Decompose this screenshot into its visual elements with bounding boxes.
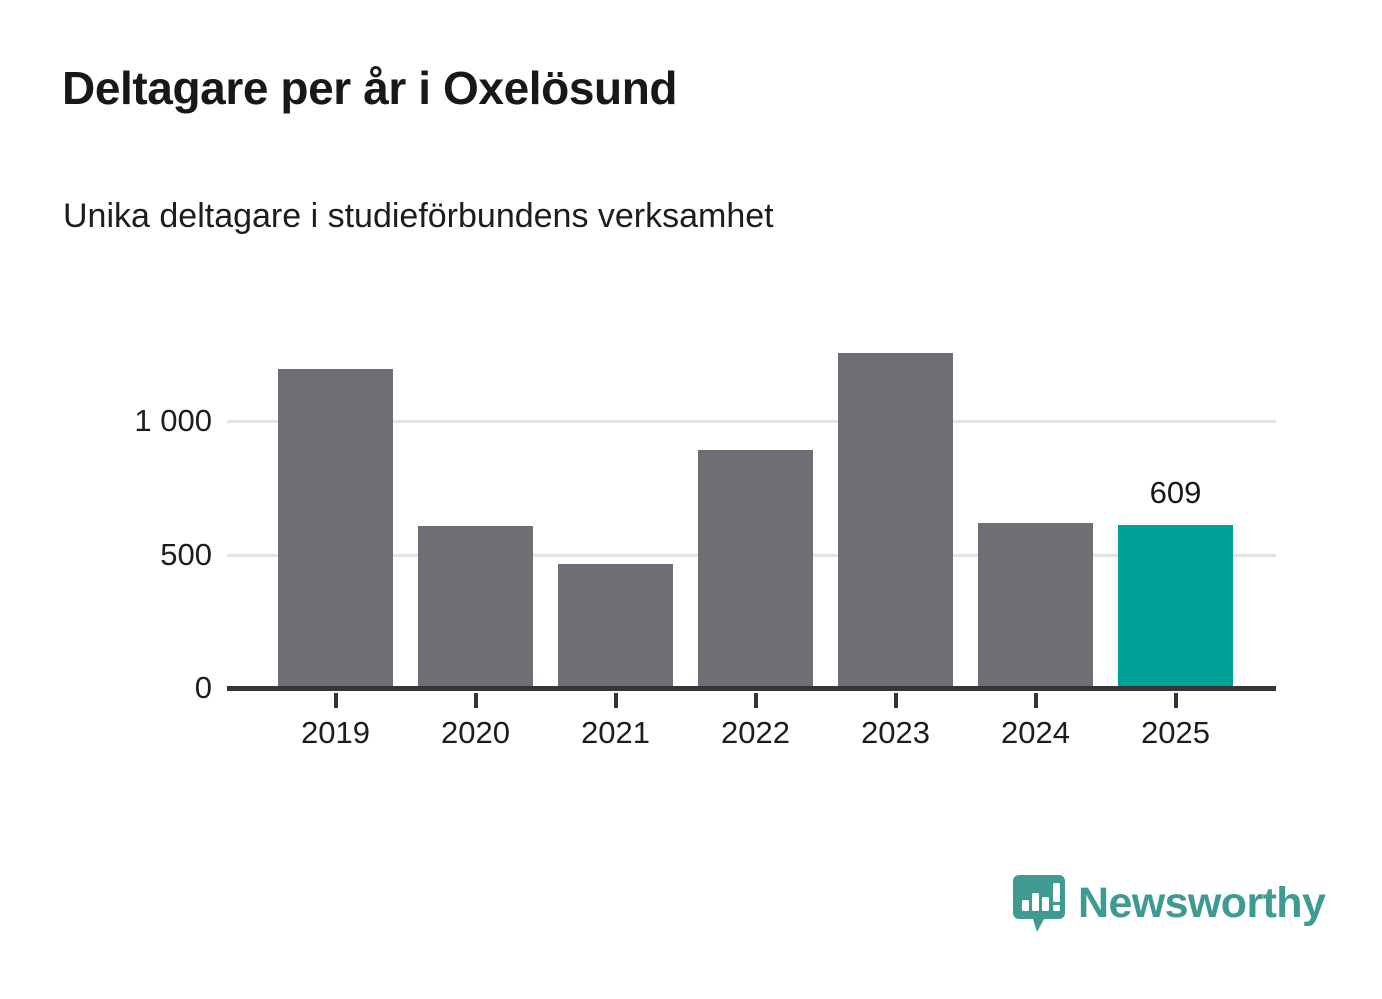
x-axis-tick-2019 [334,693,338,708]
x-axis-line [227,686,1276,691]
x-axis-tick-2021 [614,693,618,708]
x-axis-label-2021: 2021 [546,717,686,748]
x-axis-label-2023: 2023 [826,717,966,748]
bar-2023[interactable] [838,353,953,688]
bar-chart-plot: 201920202021202220232024202505001 000609 [0,0,1382,999]
x-axis-label-2020: 2020 [406,717,546,748]
x-axis-tick-2020 [474,693,478,708]
x-axis-tick-2025 [1174,693,1178,708]
bar-2021[interactable] [558,564,673,688]
bar-2020[interactable] [418,526,533,688]
x-axis-label-2025: 2025 [1106,717,1246,748]
x-axis-label-2024: 2024 [966,717,1106,748]
x-axis-tick-2024 [1034,693,1038,708]
newsworthy-logo: Newsworthy [1013,875,1325,932]
x-axis-label-2019: 2019 [266,717,406,748]
x-axis-label-2022: 2022 [686,717,826,748]
bar-2024[interactable] [978,523,1093,688]
bar-value-label-2025: 609 [1118,477,1233,508]
x-axis-tick-2022 [754,693,758,708]
y-axis-label-500: 500 [160,539,212,570]
logo-wordmark: Newsworthy [1078,882,1325,925]
bar-2025[interactable] [1118,525,1233,688]
x-axis-tick-2023 [894,693,898,708]
y-axis-label-0: 0 [195,672,212,703]
speech-bubble-bar-chart-icon [1013,875,1065,932]
y-axis-label-1000: 1 000 [134,405,212,436]
bar-2022[interactable] [698,450,813,688]
bar-2019[interactable] [278,369,393,688]
chart-page: Deltagare per år i Oxelösund Unika delta… [0,0,1382,999]
